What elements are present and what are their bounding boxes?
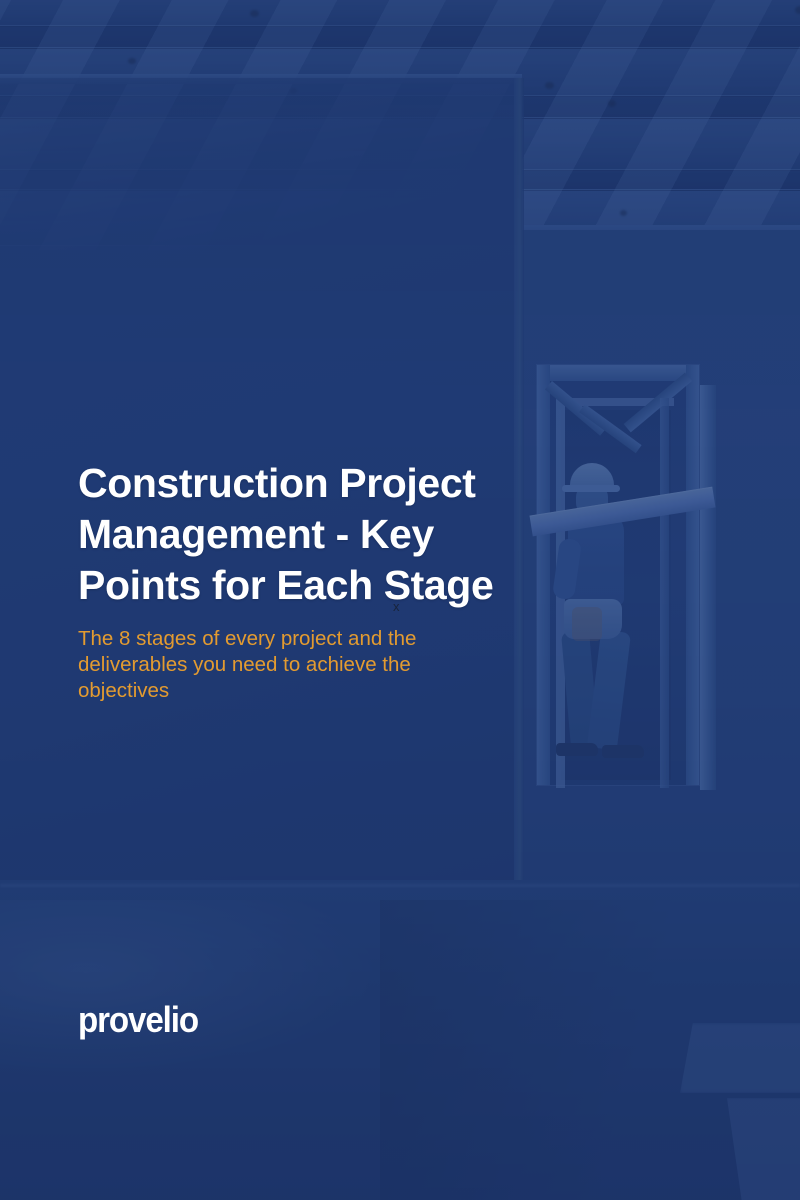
cover-content: Construction Project Management - Key Po… (0, 0, 800, 1200)
page-subtitle: The 8 stages of every project and the de… (78, 626, 428, 704)
page-title: Construction Project Management - Key Po… (78, 458, 548, 611)
cover-poster: Construction Project Management - Key Po… (0, 0, 800, 1200)
stray-x-marker: x (393, 600, 400, 613)
brand-logo: provelio (78, 999, 198, 1041)
